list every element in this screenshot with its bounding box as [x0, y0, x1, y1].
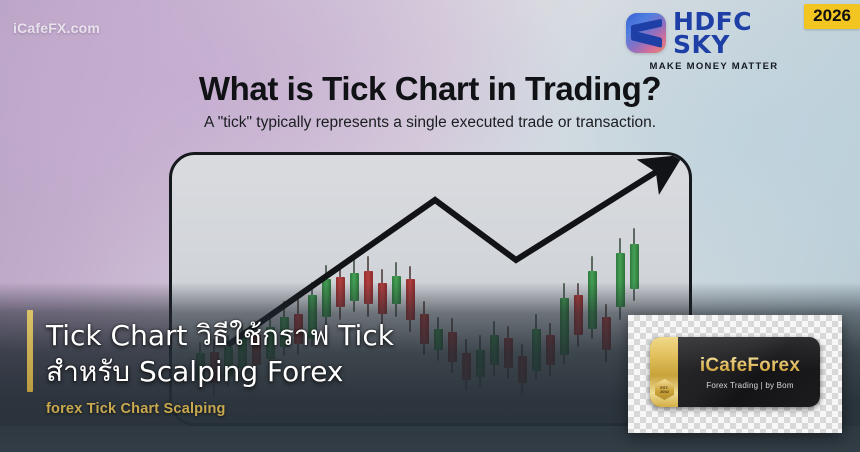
logo-row: HDFC SKY	[626, 10, 802, 56]
accent-bar	[27, 310, 33, 392]
site-watermark: iCafeFX.com	[13, 20, 100, 36]
hdfc-sky-logo: HDFC SKY MAKE MONEY MATTER	[626, 10, 802, 72]
logo-word-line2: SKY	[673, 33, 752, 56]
article-tags: forex Tick Chart Scalping	[46, 401, 226, 417]
article-title-line1: Tick Chart วิธีใช้กราฟ Tick	[46, 319, 394, 352]
promo-banner: iCafeFX.com HDFC SKY MAKE MONEY MATTER 2…	[0, 0, 860, 452]
icafeforex-name: iCafeForex	[684, 355, 816, 377]
page-subtitle: A "tick" typically represents a single e…	[0, 114, 860, 132]
article-title: Tick Chart วิธีใช้กราฟ Tick สำหรับ Scalp…	[46, 318, 606, 390]
seal-line2: 2002	[660, 390, 669, 394]
logo-wordmark: HDFC SKY	[673, 10, 752, 56]
hdfc-sky-mark-icon	[626, 13, 666, 53]
icafeforex-plate: EST. 2002 iCafeForex Forex Trading | by …	[650, 337, 820, 407]
article-title-line2: สำหรับ Scalping Forex	[46, 354, 606, 390]
icafeforex-logo-card[interactable]: EST. 2002 iCafeForex Forex Trading | by …	[628, 315, 842, 433]
icafeforex-subtitle: Forex Trading | by Bom	[684, 381, 816, 390]
page-title: What is Tick Chart in Trading?	[0, 70, 860, 108]
year-badge: 2026	[804, 4, 860, 29]
